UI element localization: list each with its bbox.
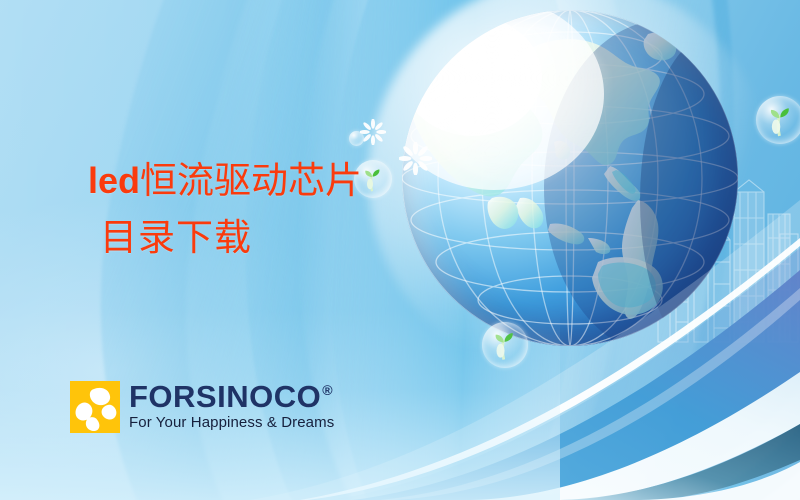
registered-trademark-icon: ® bbox=[322, 383, 333, 397]
four-petal-pinwheel-icon bbox=[70, 381, 120, 433]
globe-sphere bbox=[402, 10, 738, 346]
bubble-with-green-sprout-icon bbox=[756, 96, 800, 144]
logo-text-block: FORSINOCO ® For Your Happiness & Dreams bbox=[129, 381, 334, 431]
green-sprout-icon bbox=[488, 329, 521, 361]
pinwheel-petals bbox=[70, 381, 120, 433]
headline-line-1: led恒流驱动芯片 bbox=[88, 163, 362, 200]
headline-text: led恒流驱动芯片 目录下载 bbox=[88, 163, 362, 257]
globe-highlight bbox=[422, 23, 617, 184]
headline-cjk: 恒流驱动芯片 bbox=[140, 161, 362, 202]
company-logo: FORSINOCO ® For Your Happiness & Dreams bbox=[70, 381, 334, 433]
green-sprout-icon bbox=[359, 166, 386, 193]
green-sprout-icon bbox=[763, 104, 798, 138]
logo-wordmark: FORSINOCO ® bbox=[129, 382, 334, 412]
logo-tagline: For Your Happiness & Dreams bbox=[129, 414, 334, 431]
bubble-with-green-sprout-icon bbox=[482, 322, 528, 368]
world-globe-icon bbox=[402, 10, 738, 346]
banner-canvas: led恒流驱动芯片 目录下载 FORSINOCO ® For Your Happ… bbox=[0, 0, 800, 500]
headline-line-2: 目录下载 bbox=[100, 220, 362, 257]
logo-name: FORSINOCO bbox=[129, 382, 321, 412]
headline-latin: led bbox=[88, 160, 140, 201]
small-bubble-icon bbox=[349, 131, 364, 146]
